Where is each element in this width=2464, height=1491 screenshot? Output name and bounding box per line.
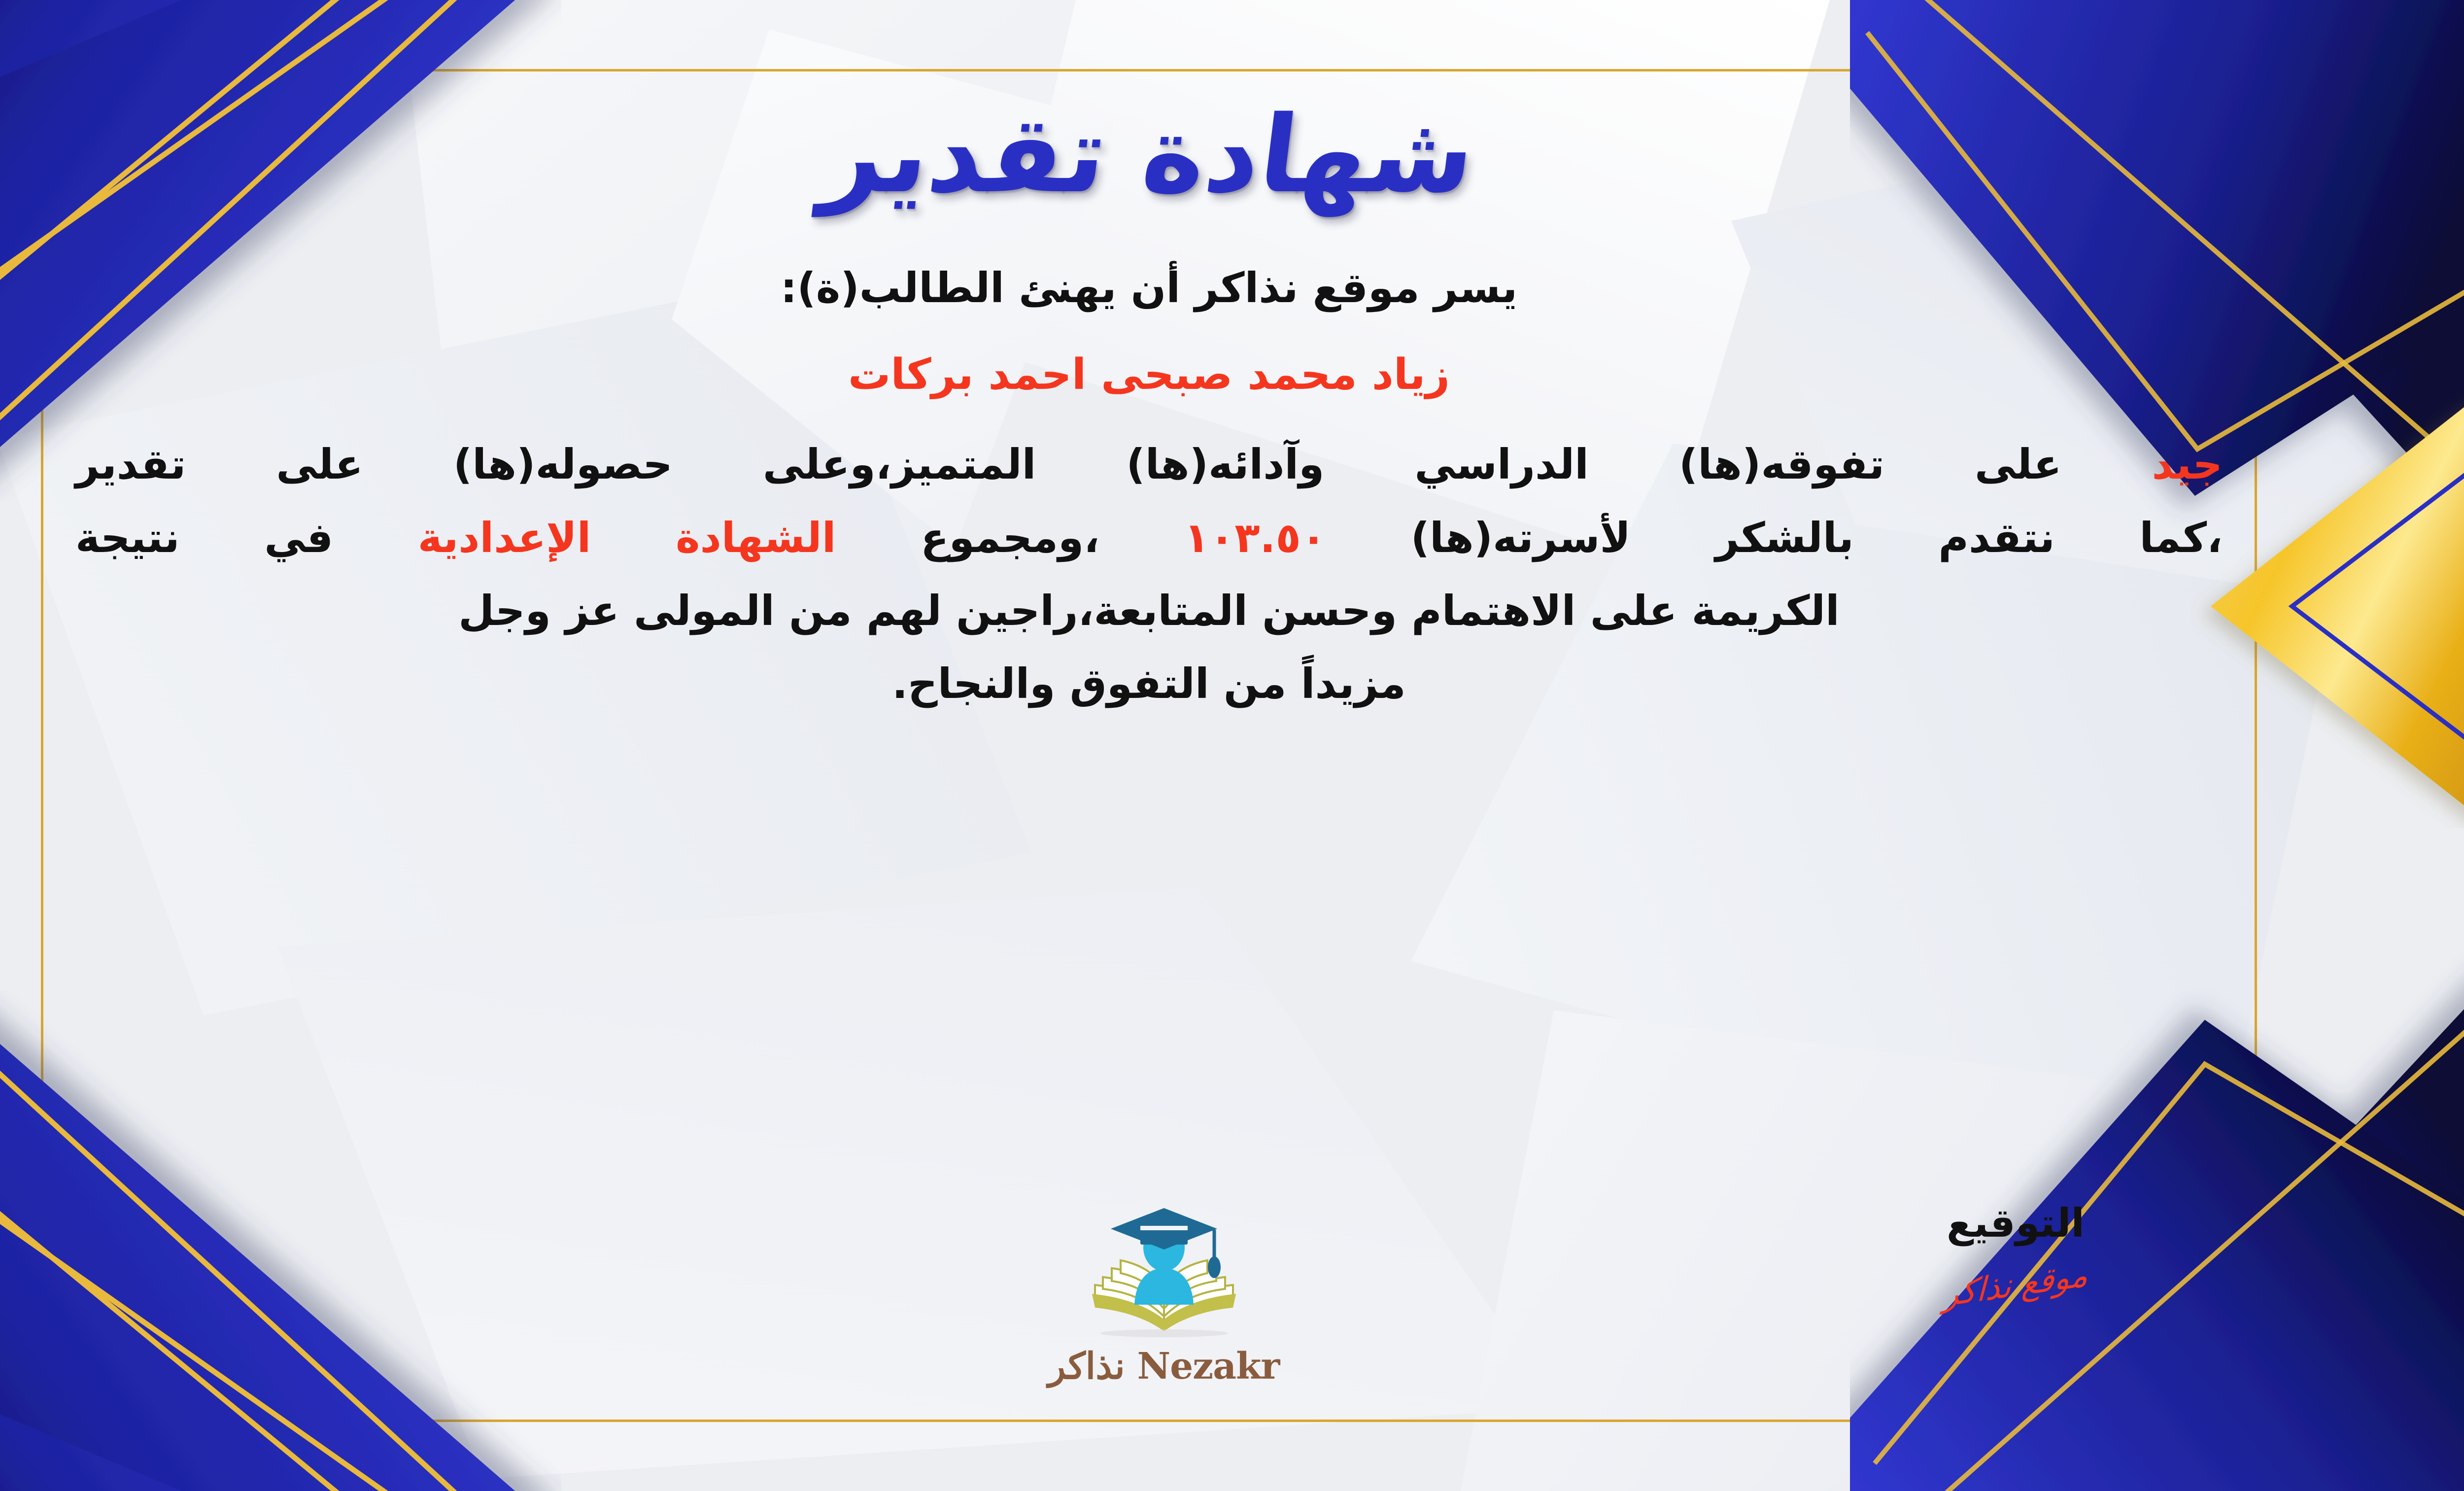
intro-line: يسر موقع نذاكر أن يهنئ الطالب(ة): <box>75 255 2223 321</box>
certificate-body: يسر موقع نذاكر أن يهنئ الطالب(ة): زياد م… <box>75 255 2223 724</box>
page-title: شهادة تقدير <box>816 94 1482 215</box>
achievement-line: جيد على تفوقه(ها) الدراسي وآدائه(ها) الم… <box>75 431 2223 497</box>
result-line: ،كما نتقدم بالشكر لأسرته(ها) ١٠٣.٥٠ ،ومج… <box>75 505 2223 571</box>
signature-label: التوقيع <box>1947 1200 2085 1246</box>
total-label: ،ومجموع <box>921 514 1099 562</box>
certificate-page: شهادة تقدير يسر موقع نذاكر أن يهنئ الطال… <box>0 0 2464 1491</box>
student-name: زياد محمد صبحى احمد بركات <box>848 350 1450 399</box>
result-thanks-text: ،كما نتقدم بالشكر لأسرته(ها) <box>1411 514 2223 562</box>
certificate-footer: Nezakr نذاكر التوقيع موقع نذاكر <box>41 1195 2257 1387</box>
title-area: شهادة تقدير <box>75 94 2223 215</box>
certificate-content: شهادة تقدير يسر موقع نذاكر أن يهنئ الطال… <box>41 69 2257 1422</box>
signature-mark: موقع نذاكر <box>1943 1255 2088 1314</box>
total-score: ١٠٣.٥٠ <box>1184 514 1326 562</box>
brand-name: Nezakr نذاكر <box>1048 1345 1280 1387</box>
brand-logo: Nezakr نذاكر <box>977 1195 1351 1387</box>
family-thanks-line: الكريمة على الاهتمام وحسن المتابعة،راجين… <box>75 578 2223 644</box>
closing-line: مزيداً من التفوق والنجاح. <box>75 651 2223 717</box>
signature-area: التوقيع موقع نذاكر <box>1823 1195 2208 1304</box>
grade-value: جيد <box>2152 440 2223 488</box>
graduate-book-icon <box>1065 1195 1263 1343</box>
certificate-stage: الشهادة الإعدادية <box>418 514 836 562</box>
student-name-line: زياد محمد صبحى احمد بركات <box>75 341 2223 409</box>
result-prefix: في نتيجة <box>75 514 333 562</box>
achievement-text: على تفوقه(ها) الدراسي وآدائه(ها) المتميز… <box>75 440 2062 488</box>
